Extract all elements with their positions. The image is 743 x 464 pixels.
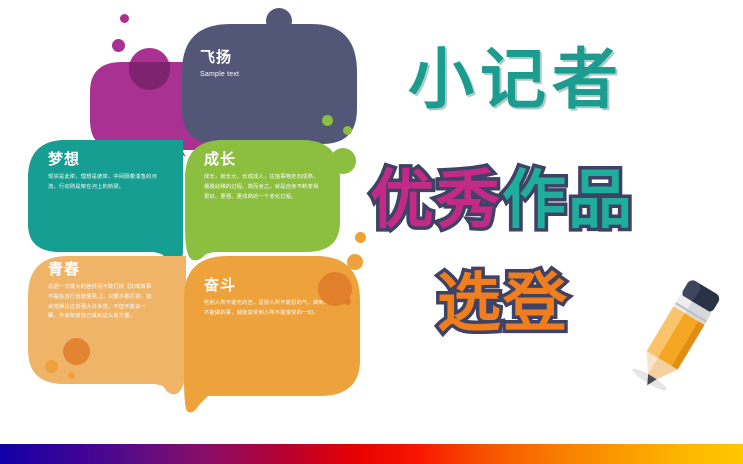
bubble-chengzhang[interactable]: 成长 成长，就长大、长成成人，往指事物走向成熟，摆脱幼稚的过程。简而言之，就是自… [204,152,322,202]
bubble-qingchun[interactable]: 青春 总因一次极大的挫折而不敢打拼【比喻故事不提名自行创造便机，】，只要不敢打拼… [48,262,152,322]
bubble-feiyang-subtitle: Sample text [200,71,345,79]
bubble-chengzhang-body: 成长，就长大、长成成人，往指事物走向成熟，摆脱幼稚的过程。简而言之，就是自身不断… [204,173,322,202]
bubble-mengxiang-body: 现实是此岸，理想是彼岸，中间隔着湍急的河流，行动则是架在河上的桥梁。 [48,173,166,193]
headline-char-xuan: 选 [437,271,503,335]
headline-char-pin: 品 [568,168,634,232]
headline-char-deng: 登 [503,271,569,335]
bubble-qingchun-body: 总因一次极大的挫折而不敢打拼【比喻故事不提名自行创造便机，】，只要不敢打拼，就会… [48,283,152,322]
pencil-icon [626,278,730,394]
bubble-mengxiang-title: 梦想 [48,152,166,167]
page-title-xiaojizhe: 小记者 [408,46,624,112]
bubble-qingchun-title: 青春 [48,262,152,277]
headline-char-zuo: 作 [502,168,568,232]
decor-circle-orange-fd-mid [347,254,363,270]
decor-circle-orange-qc-small [68,372,75,379]
rainbow-gradient-bar [0,444,743,464]
headline-char-you: 优 [370,168,436,232]
decor-circle-magenta-mid [112,39,125,52]
decor-circle-orange-qc-mid [45,360,58,373]
bubble-chengzhang-title: 成长 [204,152,322,167]
bubble-mengxiang[interactable]: 梦想 现实是此岸，理想是彼岸，中间隔着湍急的河流，行动则是架在河上的桥梁。 [48,152,166,193]
bubble-feiyang-shape [182,24,357,154]
decor-circle-orange-qc-large [63,338,90,365]
bubble-feiyang[interactable]: 飞扬 Sample text [200,50,345,79]
poster-canvas: 飞扬 Sample text 梦想 现实是此岸，理想是彼岸，中间隔着湍急的河流，… [0,0,743,464]
decor-circle-green-mid [343,126,352,135]
bubble-fendou-body: 吃别人所不能吃的苦，忍别人所不能忍的气，做到人所不能做的事，就能享受到人所不能享… [204,299,340,319]
bubble-feiyang-title: 飞扬 [200,50,345,65]
headline-xuandeng: 选登 [437,271,569,335]
decor-circle-magenta-small [120,14,129,23]
decor-circle-orange-fd-tiny [344,298,351,305]
headline-char-xiu: 秀 [436,168,502,232]
headline-youxiu-zuopin: 优秀作品 [370,168,634,232]
bubble-tree: 飞扬 Sample text 梦想 现实是此岸，理想是彼岸，中间隔着湍急的河流，… [0,0,400,430]
decor-circle-green-small [322,115,333,126]
decor-circle-orange-fd-small [355,232,366,243]
